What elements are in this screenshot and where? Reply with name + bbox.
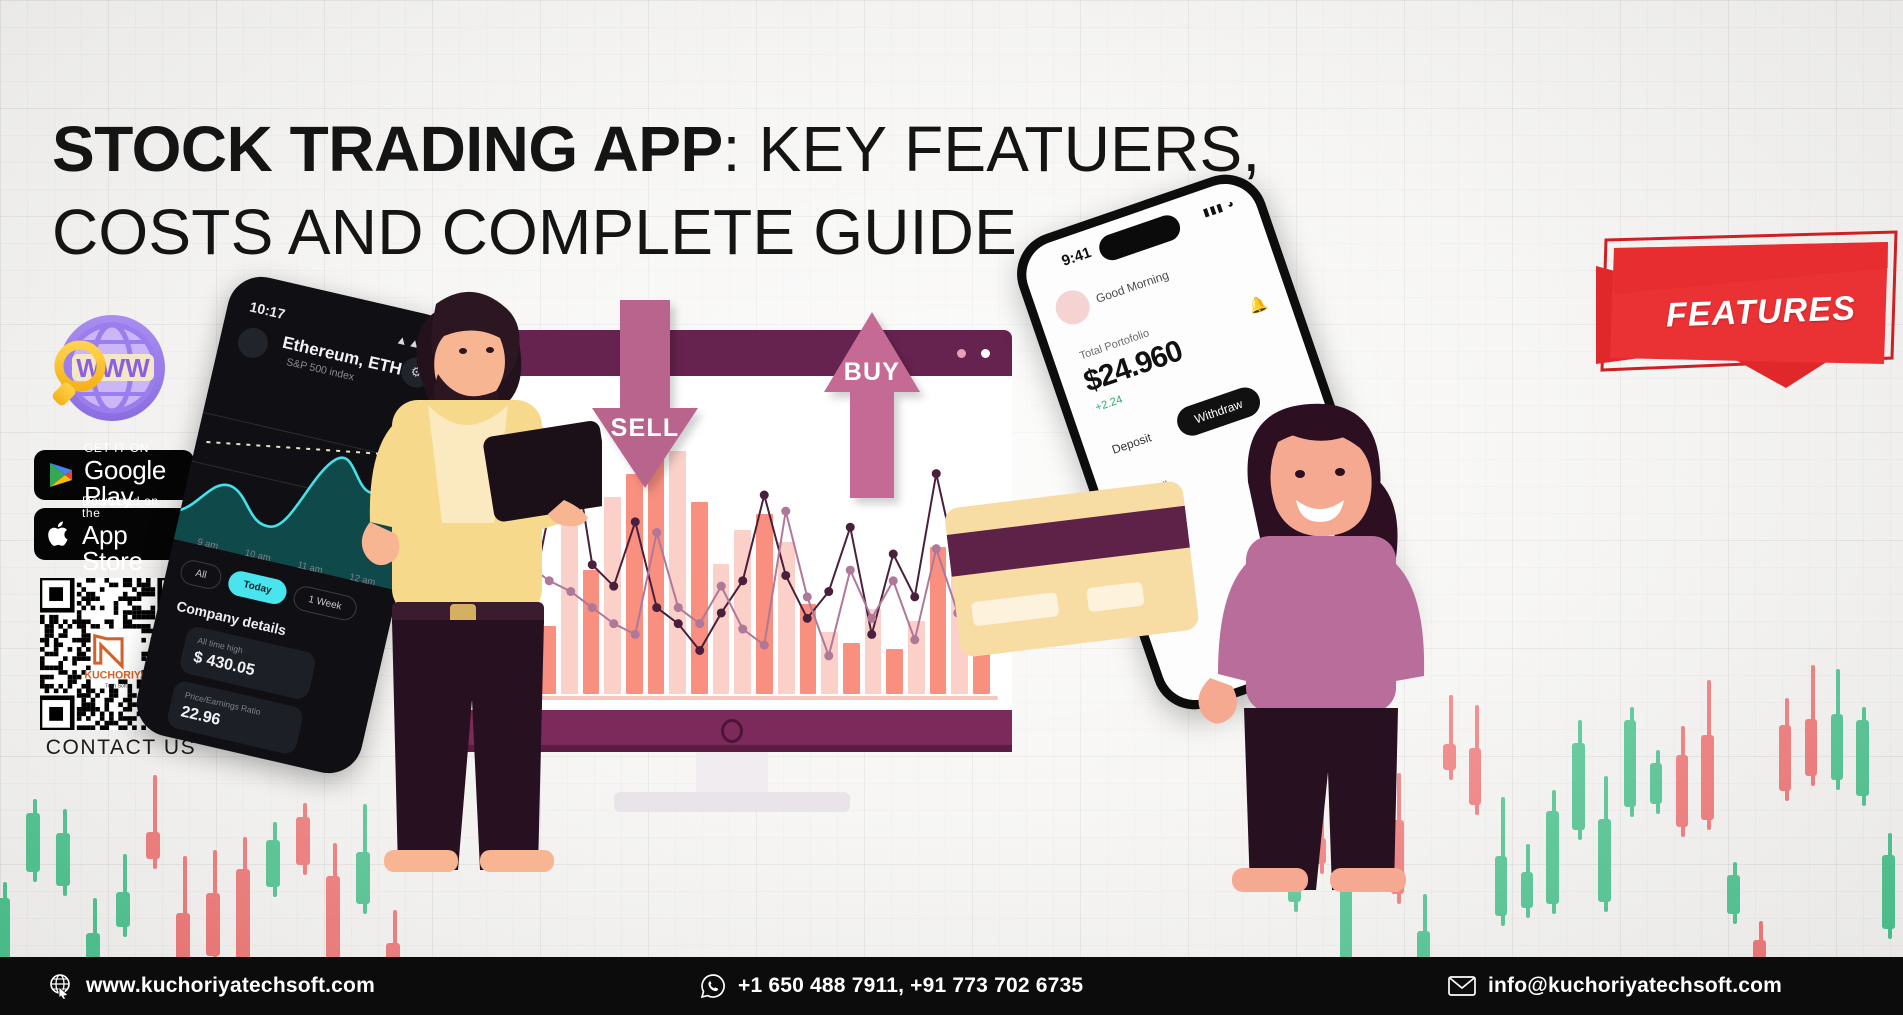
chart-point bbox=[631, 517, 640, 526]
footer-bar: www.kuchoriyatechsoft.com +1 650 488 791… bbox=[0, 957, 1903, 1015]
chart-point bbox=[867, 630, 876, 639]
google-play-badge[interactable]: GET IT ON Google Play bbox=[34, 450, 194, 500]
chart-point bbox=[609, 619, 618, 628]
monitor-led-dot bbox=[981, 349, 990, 358]
chart-point bbox=[609, 582, 618, 591]
avatar[interactable] bbox=[1051, 286, 1094, 329]
phone-left-stat-value: $ 430.05 bbox=[192, 649, 257, 681]
chart-point bbox=[652, 528, 661, 537]
features-ribbon-label: FEATURES bbox=[1655, 289, 1866, 336]
chart-point bbox=[889, 550, 898, 559]
monitor-camera-dot bbox=[957, 349, 966, 358]
chart-point bbox=[781, 571, 790, 580]
chart-point bbox=[652, 603, 661, 612]
svg-text:KUCHORIYA: KUCHORIYA bbox=[84, 669, 148, 681]
www-globe-icon: WWW bbox=[40, 308, 180, 428]
chart-point bbox=[781, 507, 790, 516]
chart-point bbox=[867, 614, 876, 623]
svg-text:WWW: WWW bbox=[76, 353, 150, 383]
phone-right-status-time: 9:41 bbox=[1060, 244, 1094, 270]
phone-right-notch bbox=[1096, 212, 1184, 264]
chart-point bbox=[717, 582, 726, 591]
footer-phone-label: +1 650 488 7911, +91 773 702 6735 bbox=[738, 974, 1083, 998]
google-play-icon bbox=[48, 461, 74, 489]
chart-point bbox=[674, 619, 683, 628]
footer-email-label: info@kuchoriyatechsoft.com bbox=[1488, 974, 1782, 998]
buy-arrow-label: BUY bbox=[822, 358, 922, 387]
bell-icon[interactable]: 🔔 bbox=[1246, 293, 1270, 316]
chart-point bbox=[717, 608, 726, 617]
chart-point bbox=[631, 630, 640, 639]
phone-right-greeting: Good Morning bbox=[1094, 268, 1170, 306]
phone-left-tab-all[interactable]: All bbox=[178, 558, 224, 592]
buy-arrow[interactable]: BUY bbox=[822, 310, 922, 500]
phone-left-coin-icon bbox=[235, 325, 271, 361]
chart-point bbox=[846, 566, 855, 575]
google-play-small-label: GET IT ON bbox=[84, 442, 180, 454]
deposit-button[interactable]: Deposit bbox=[1110, 430, 1153, 456]
footer-email[interactable]: info@kuchoriyatechsoft.com bbox=[1448, 974, 1782, 998]
chart-point bbox=[824, 587, 833, 596]
illustration-woman-with-card bbox=[1174, 378, 1464, 898]
chart-point bbox=[846, 523, 855, 532]
chart-point bbox=[760, 491, 769, 500]
app-store-small-label: Download on the bbox=[82, 495, 180, 519]
chart-point bbox=[932, 469, 941, 478]
chart-point bbox=[695, 646, 704, 655]
chart-point bbox=[738, 625, 747, 634]
chart-point bbox=[889, 576, 898, 585]
sell-arrow-label: SELL bbox=[590, 414, 700, 443]
banner-canvas: STOCK TRADING APP: KEY FEATUERS, COSTS A… bbox=[0, 0, 1903, 1015]
whatsapp-icon bbox=[700, 973, 726, 999]
chart-point bbox=[803, 614, 812, 623]
monitor-stand-base bbox=[614, 792, 850, 812]
chart-point bbox=[910, 635, 919, 644]
chart-point bbox=[760, 641, 769, 650]
footer-phone[interactable]: +1 650 488 7911, +91 773 702 6735 bbox=[700, 973, 1083, 999]
chart-point bbox=[932, 544, 941, 553]
globe-cursor-icon bbox=[48, 973, 74, 999]
phone-left-status-time: 10:17 bbox=[248, 298, 286, 322]
svg-text:Tech Soft: Tech Soft bbox=[105, 683, 127, 689]
sell-arrow[interactable]: SELL bbox=[590, 300, 700, 490]
envelope-icon bbox=[1448, 975, 1476, 997]
chart-point bbox=[674, 603, 683, 612]
footer-website[interactable]: www.kuchoriyatechsoft.com bbox=[48, 973, 375, 999]
phone-right-status-signal: ▮▮▮ ◕ bbox=[1201, 196, 1236, 219]
page-title-bold: STOCK TRADING APP bbox=[52, 113, 723, 185]
features-ribbon: FEATURES bbox=[1596, 228, 1903, 408]
phone-left-stat-value: 22.96 bbox=[179, 703, 222, 730]
illustration-man-with-tablet bbox=[332, 250, 602, 880]
chart-point bbox=[824, 651, 833, 660]
app-store-big-label: App Store bbox=[82, 522, 180, 574]
credit-card-illustration bbox=[943, 480, 1200, 663]
chart-point bbox=[738, 576, 747, 585]
chart-point bbox=[803, 592, 812, 601]
phone-left-tab-today[interactable]: Today bbox=[226, 569, 289, 607]
monitor-home-button-icon[interactable] bbox=[721, 719, 743, 743]
apple-icon bbox=[48, 520, 72, 548]
chart-point bbox=[695, 619, 704, 628]
chart-point bbox=[910, 592, 919, 601]
footer-website-label: www.kuchoriyatechsoft.com bbox=[86, 974, 375, 998]
